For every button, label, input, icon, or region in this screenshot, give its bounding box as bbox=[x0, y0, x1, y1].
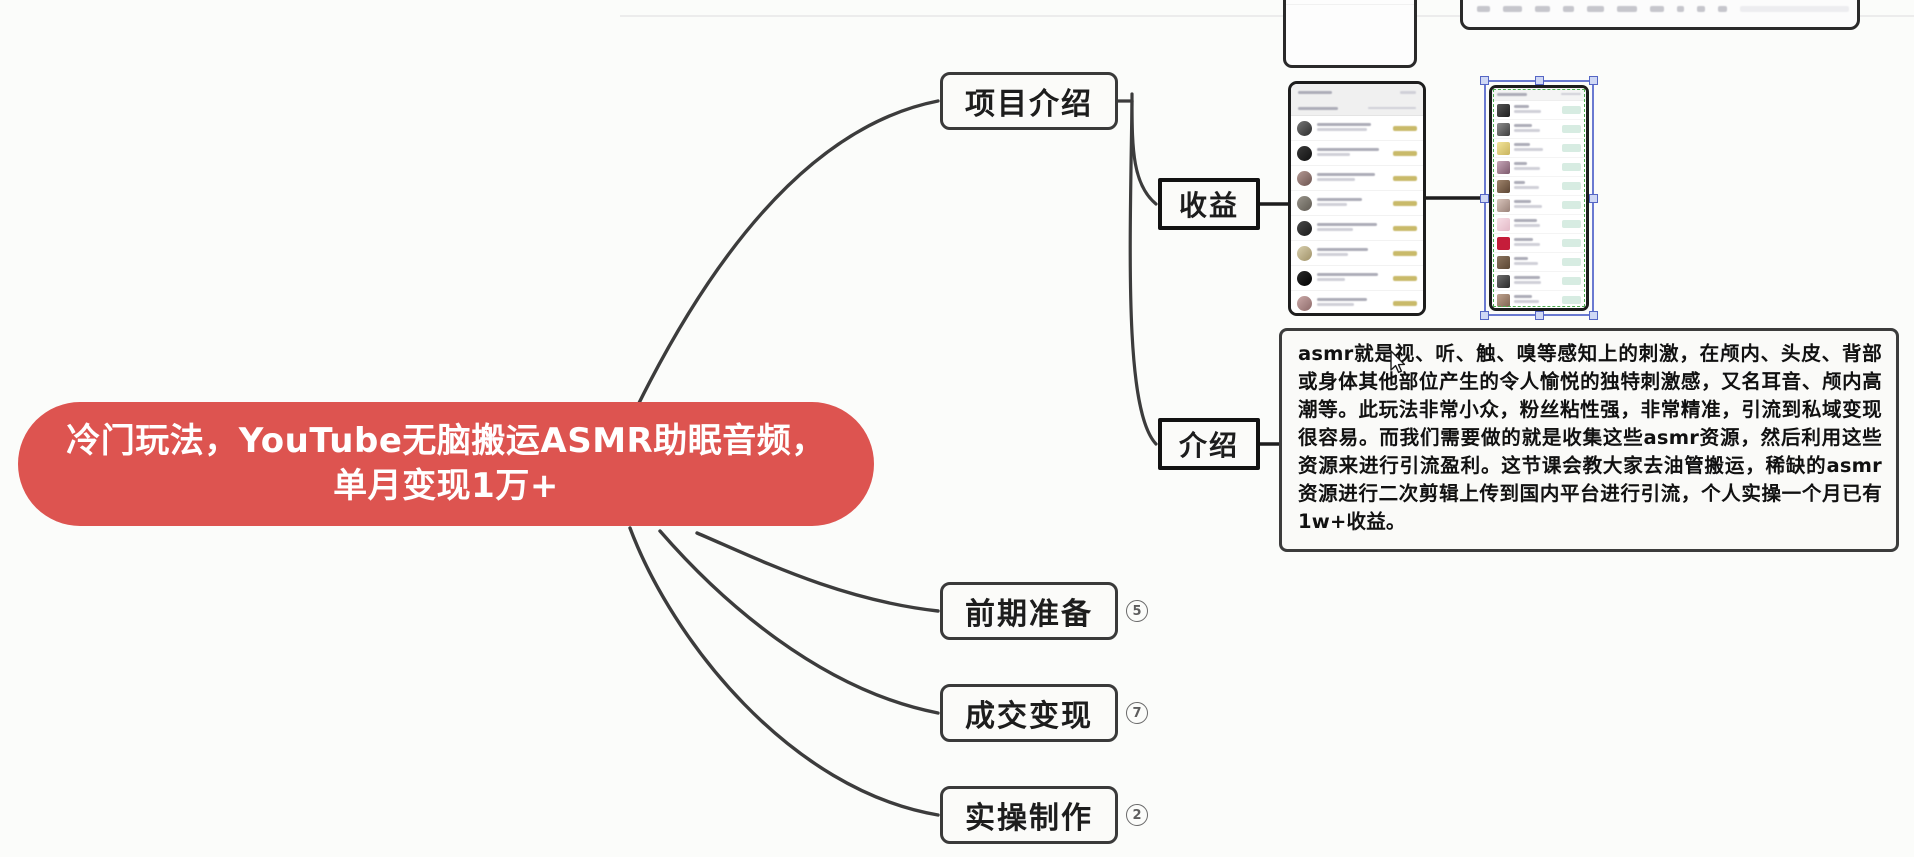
list-item bbox=[1492, 158, 1586, 177]
node-preparation[interactable]: 前期准备 bbox=[940, 582, 1118, 640]
action-button[interactable] bbox=[1562, 163, 1581, 171]
attachment-top-chat-card[interactable] bbox=[1283, 0, 1417, 68]
avatar bbox=[1297, 121, 1312, 136]
list-item bbox=[1492, 139, 1586, 158]
edge-root-to-production bbox=[630, 528, 938, 815]
amount-value bbox=[1393, 226, 1417, 231]
node-monetization-label: 成交变现 bbox=[965, 691, 1093, 735]
amount-value bbox=[1393, 151, 1417, 156]
amount-value bbox=[1393, 301, 1417, 306]
action-button[interactable] bbox=[1562, 106, 1581, 114]
avatar bbox=[1497, 199, 1510, 212]
table-row bbox=[1291, 116, 1423, 141]
screenshot-header bbox=[1291, 84, 1423, 101]
table-row bbox=[1291, 141, 1423, 166]
avatar bbox=[1297, 146, 1312, 161]
avatar bbox=[1497, 142, 1510, 155]
action-button[interactable] bbox=[1562, 201, 1581, 209]
list-item bbox=[1286, 0, 1414, 5]
note-box-text: asmr就是视、听、触、嗅等感知上的刺激，在颅内、头皮、背部或身体其他部位产生的… bbox=[1298, 340, 1882, 537]
list-item bbox=[1492, 196, 1586, 215]
table-row bbox=[1291, 191, 1423, 216]
note-box[interactable]: asmr就是视、听、触、嗅等感知上的刺激，在颅内、头皮、背部或身体其他部位产生的… bbox=[1279, 328, 1899, 552]
amount-value bbox=[1393, 276, 1417, 281]
action-button[interactable] bbox=[1562, 182, 1581, 190]
table-row bbox=[1291, 216, 1423, 241]
badge-preparation-count[interactable]: 5 bbox=[1126, 600, 1148, 622]
amount-value bbox=[1393, 176, 1417, 181]
node-project-intro-label: 项目介绍 bbox=[965, 79, 1093, 123]
screenshot-subheader bbox=[1291, 101, 1423, 116]
badge-monetization-count[interactable]: 7 bbox=[1126, 702, 1148, 724]
action-button[interactable] bbox=[1562, 239, 1581, 247]
edge-root-to-preparation bbox=[697, 533, 938, 611]
badge-production-count[interactable]: 2 bbox=[1126, 804, 1148, 826]
list-item bbox=[1492, 215, 1586, 234]
table-row bbox=[1291, 291, 1423, 316]
resize-handle-top-right[interactable] bbox=[1589, 76, 1598, 85]
toolbar-row bbox=[1471, 0, 1849, 19]
avatar bbox=[1497, 123, 1510, 136]
node-introduction-label: 介绍 bbox=[1179, 424, 1239, 464]
edge-project-intro-to-income bbox=[1132, 101, 1156, 204]
avatar bbox=[1497, 180, 1510, 193]
list-item bbox=[1492, 234, 1586, 253]
amount-value bbox=[1393, 251, 1417, 256]
node-project-intro[interactable]: 项目介绍 bbox=[940, 72, 1118, 130]
avatar bbox=[1497, 104, 1510, 117]
resize-handle-middle-left[interactable] bbox=[1480, 194, 1489, 203]
node-preparation-label: 前期准备 bbox=[965, 589, 1093, 633]
amount-value bbox=[1393, 126, 1417, 131]
node-production[interactable]: 实操制作 bbox=[940, 786, 1118, 844]
list-item bbox=[1492, 177, 1586, 196]
amount-value bbox=[1393, 201, 1417, 206]
resize-handle-bottom-left[interactable] bbox=[1480, 311, 1489, 320]
action-button[interactable] bbox=[1562, 258, 1581, 266]
node-introduction[interactable]: 介绍 bbox=[1158, 418, 1260, 470]
avatar bbox=[1297, 171, 1312, 186]
avatar bbox=[1497, 218, 1510, 231]
avatar bbox=[1497, 237, 1510, 250]
avatar bbox=[1297, 296, 1312, 311]
node-monetization[interactable]: 成交变现 bbox=[940, 684, 1118, 742]
node-income-label: 收益 bbox=[1179, 184, 1239, 224]
table-row bbox=[1291, 166, 1423, 191]
resize-handle-top-center[interactable] bbox=[1535, 76, 1544, 85]
attachment-contacts-list[interactable] bbox=[1484, 80, 1594, 316]
avatar bbox=[1297, 246, 1312, 261]
root-node-label: 冷门玩法，YouTube无脑搬运ASMR助眠音频，单月变现1万+ bbox=[64, 419, 828, 509]
node-production-label: 实操制作 bbox=[965, 793, 1093, 837]
list-item bbox=[1492, 253, 1586, 272]
action-button[interactable] bbox=[1562, 220, 1581, 228]
avatar bbox=[1297, 221, 1312, 236]
root-node[interactable]: 冷门玩法，YouTube无脑搬运ASMR助眠音频，单月变现1万+ bbox=[18, 402, 874, 526]
table-row bbox=[1291, 241, 1423, 266]
screenshot-header bbox=[1492, 88, 1586, 101]
avatar bbox=[1297, 196, 1312, 211]
resize-handle-bottom-center[interactable] bbox=[1535, 311, 1544, 320]
action-button[interactable] bbox=[1562, 144, 1581, 152]
attachment-toolbar-strip[interactable] bbox=[1460, 0, 1860, 30]
resize-handle-middle-right[interactable] bbox=[1589, 194, 1598, 203]
avatar bbox=[1497, 161, 1510, 174]
action-button[interactable] bbox=[1562, 277, 1581, 285]
table-row bbox=[1291, 266, 1423, 291]
list-item bbox=[1492, 291, 1586, 310]
resize-handle-bottom-right[interactable] bbox=[1589, 311, 1598, 320]
edge-root-to-project-intro bbox=[637, 101, 938, 407]
contacts-screenshot-frame bbox=[1489, 85, 1589, 311]
attachment-income-list[interactable] bbox=[1288, 81, 1426, 316]
edge-root-to-monetization bbox=[660, 531, 938, 713]
avatar bbox=[1497, 294, 1510, 307]
avatar bbox=[1497, 256, 1510, 269]
node-income[interactable]: 收益 bbox=[1158, 178, 1260, 230]
avatar bbox=[1297, 271, 1312, 286]
list-item bbox=[1492, 120, 1586, 139]
list-item bbox=[1492, 272, 1586, 291]
resize-handle-top-left[interactable] bbox=[1480, 76, 1489, 85]
avatar bbox=[1497, 275, 1510, 288]
action-button[interactable] bbox=[1562, 296, 1581, 304]
mindmap-canvas[interactable]: 冷门玩法，YouTube无脑搬运ASMR助眠音频，单月变现1万+ 项目介绍 收益… bbox=[0, 0, 1914, 857]
edge-project-intro-to-introduction bbox=[1130, 101, 1156, 444]
action-button[interactable] bbox=[1562, 125, 1581, 133]
list-item bbox=[1492, 101, 1586, 120]
